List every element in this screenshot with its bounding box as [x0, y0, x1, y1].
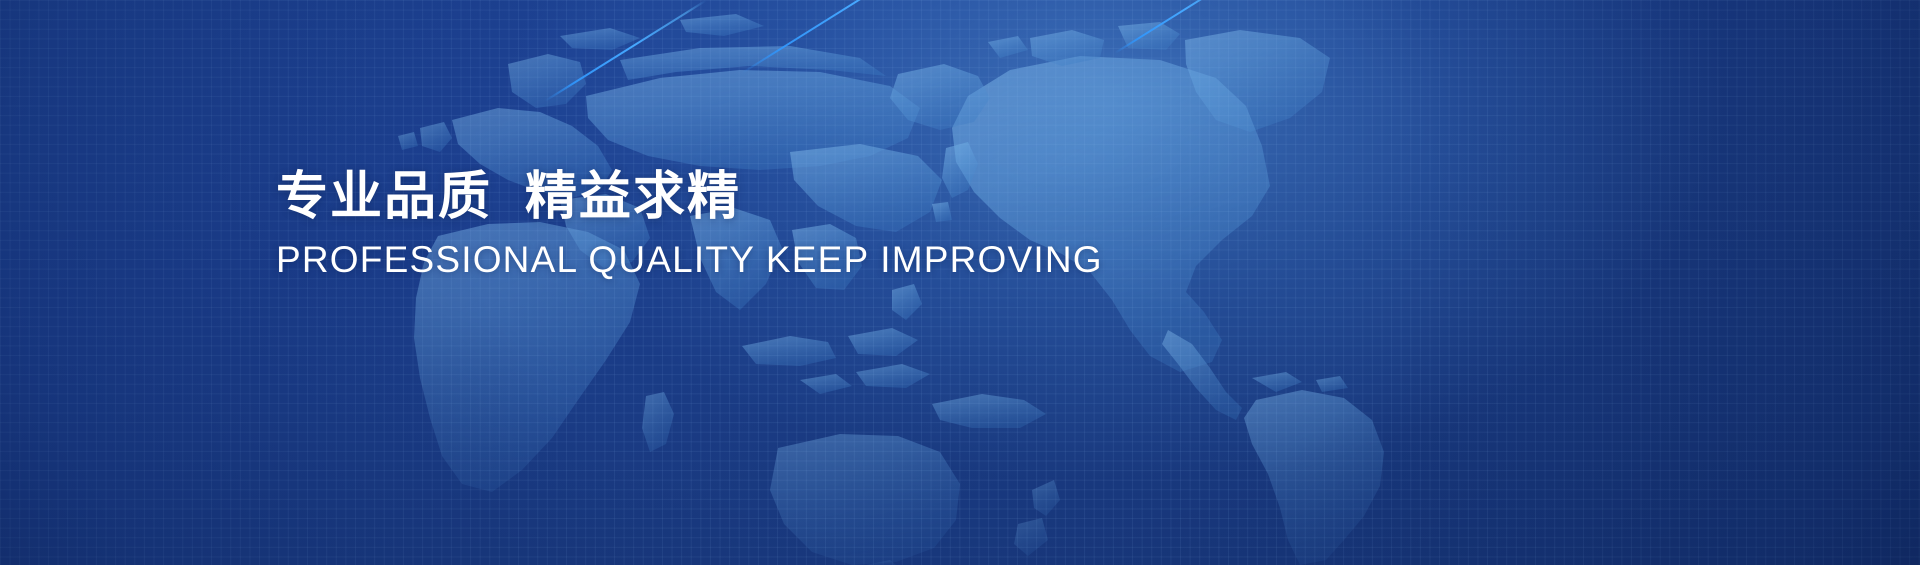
banner-text-block: 专业品质 精益求精 PROFESSIONAL QUALITY KEEP IMPR… — [276, 168, 1376, 281]
vignette-overlay — [0, 0, 1920, 565]
banner-headline-chinese: 专业品质 精益求精 — [276, 168, 1376, 226]
banner-subtitle-english: PROFESSIONAL QUALITY KEEP IMPROVING — [276, 240, 1376, 281]
hero-banner: 专业品质 精益求精 PROFESSIONAL QUALITY KEEP IMPR… — [0, 0, 1920, 565]
